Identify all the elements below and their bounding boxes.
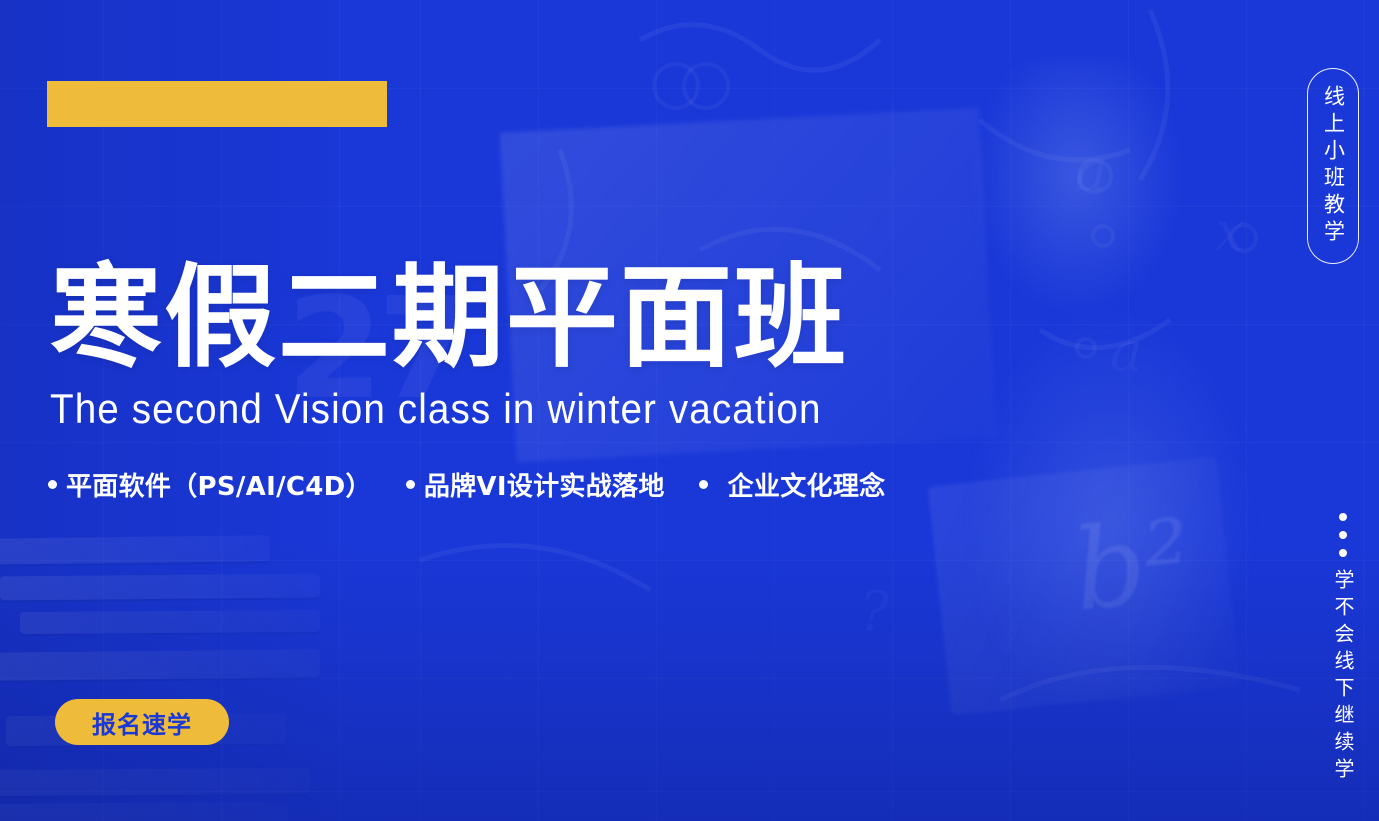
dot-icon xyxy=(1339,549,1347,557)
guarantee-slogan: 学不会线下继续学 xyxy=(1333,513,1353,785)
slogan-label: 学不会线下继续学 xyxy=(1333,569,1353,785)
yellow-accent-bar xyxy=(47,81,387,127)
bullet-dot-icon xyxy=(48,480,57,489)
dot-icon xyxy=(1339,513,1347,521)
headline-block: 寒假二期平面班 The second Vision class in winte… xyxy=(50,262,889,430)
badge-label: 线上小班教学 xyxy=(1323,85,1344,247)
feature-list: 平面软件（PS/AI/C4D） 品牌VI设计实战落地 企业文化理念 xyxy=(48,466,885,503)
feature-label: 品牌VI设计实战落地 xyxy=(424,466,665,503)
three-dots-icon xyxy=(1339,513,1347,557)
poster-content: 寒假二期平面班 The second Vision class in winte… xyxy=(0,0,1379,821)
dot-icon xyxy=(1339,531,1347,539)
promo-poster: b² 27 xyxy=(0,0,1379,821)
feature-item-brand-vi: 品牌VI设计实战落地 xyxy=(406,466,665,503)
feature-item-culture: 企业文化理念 xyxy=(699,466,886,503)
feature-item-software: 平面软件（PS/AI/C4D） xyxy=(48,466,372,503)
enroll-button-label: 报名速学 xyxy=(92,705,192,740)
bullet-dot-icon xyxy=(406,480,415,489)
online-small-class-badge: 线上小班教学 xyxy=(1307,68,1359,264)
page-title: 寒假二期平面班 xyxy=(50,262,889,374)
enroll-button[interactable]: 报名速学 xyxy=(55,699,229,745)
bullet-dot-icon xyxy=(699,480,708,489)
feature-label: 平面软件（PS/AI/C4D） xyxy=(66,466,372,503)
page-subtitle: The second Vision class in winter vacati… xyxy=(50,388,822,430)
feature-label: 企业文化理念 xyxy=(728,466,886,503)
